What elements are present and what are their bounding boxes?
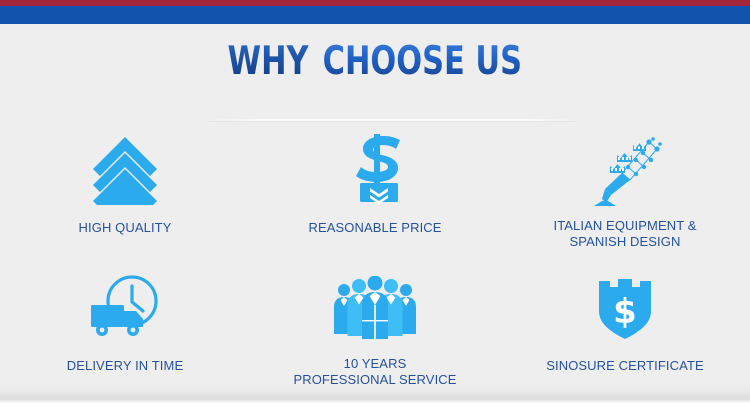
feature-row-top: HIGH QUALITY REASONABLE PRICE xyxy=(0,132,750,250)
title-divider xyxy=(209,119,575,122)
feature-item-sinosure-certificate[interactable]: $ SINOSURE CERTIFICATE xyxy=(500,268,750,388)
dollar-down-arrow-icon xyxy=(344,132,406,210)
page-title-word-primary: WHY xyxy=(228,39,309,84)
feature-item-professional-service[interactable]: 10 YEARS PROFESSIONAL SERVICE xyxy=(250,268,500,388)
feature-item-high-quality[interactable]: HIGH QUALITY xyxy=(0,132,250,250)
page-title: WHYCHOOSE US xyxy=(0,40,750,84)
content-surface: WHYCHOOSE US HIGH QUALITY xyxy=(0,24,750,403)
feature-label: ITALIAN EQUIPMENT & SPANISH DESIGN xyxy=(553,218,696,250)
feature-label: HIGH QUALITY xyxy=(79,220,172,236)
feature-label: REASONABLE PRICE xyxy=(308,220,441,236)
truck-clock-icon xyxy=(85,268,165,348)
why-choose-us-section: WHY CHOOSE US WHYCHOOSE US xyxy=(0,0,750,403)
feature-label: 10 YEARS PROFESSIONAL SERVICE xyxy=(293,356,456,388)
top-strip-cut-text: WHY CHOOSE US xyxy=(0,0,750,3)
team-people-icon xyxy=(333,268,417,348)
feature-row-bottom: DELIVERY IN TIME xyxy=(0,268,750,388)
top-blue-bar xyxy=(0,6,750,24)
feature-grid: HIGH QUALITY REASONABLE PRICE xyxy=(0,132,750,388)
svg-text:$: $ xyxy=(613,292,637,332)
pen-network-icon xyxy=(586,132,664,210)
feature-label: SINOSURE CERTIFICATE xyxy=(546,358,704,374)
feature-label: DELIVERY IN TIME xyxy=(67,358,183,374)
shield-dollar-icon: $ xyxy=(595,268,655,348)
page-title-word-secondary: CHOOSE US xyxy=(323,39,522,84)
chevron-pentagon-icon xyxy=(91,132,159,210)
feature-item-delivery-in-time[interactable]: DELIVERY IN TIME xyxy=(0,268,250,388)
feature-item-italian-equipment[interactable]: ITALIAN EQUIPMENT & SPANISH DESIGN xyxy=(500,132,750,250)
feature-item-reasonable-price[interactable]: REASONABLE PRICE xyxy=(250,132,500,250)
